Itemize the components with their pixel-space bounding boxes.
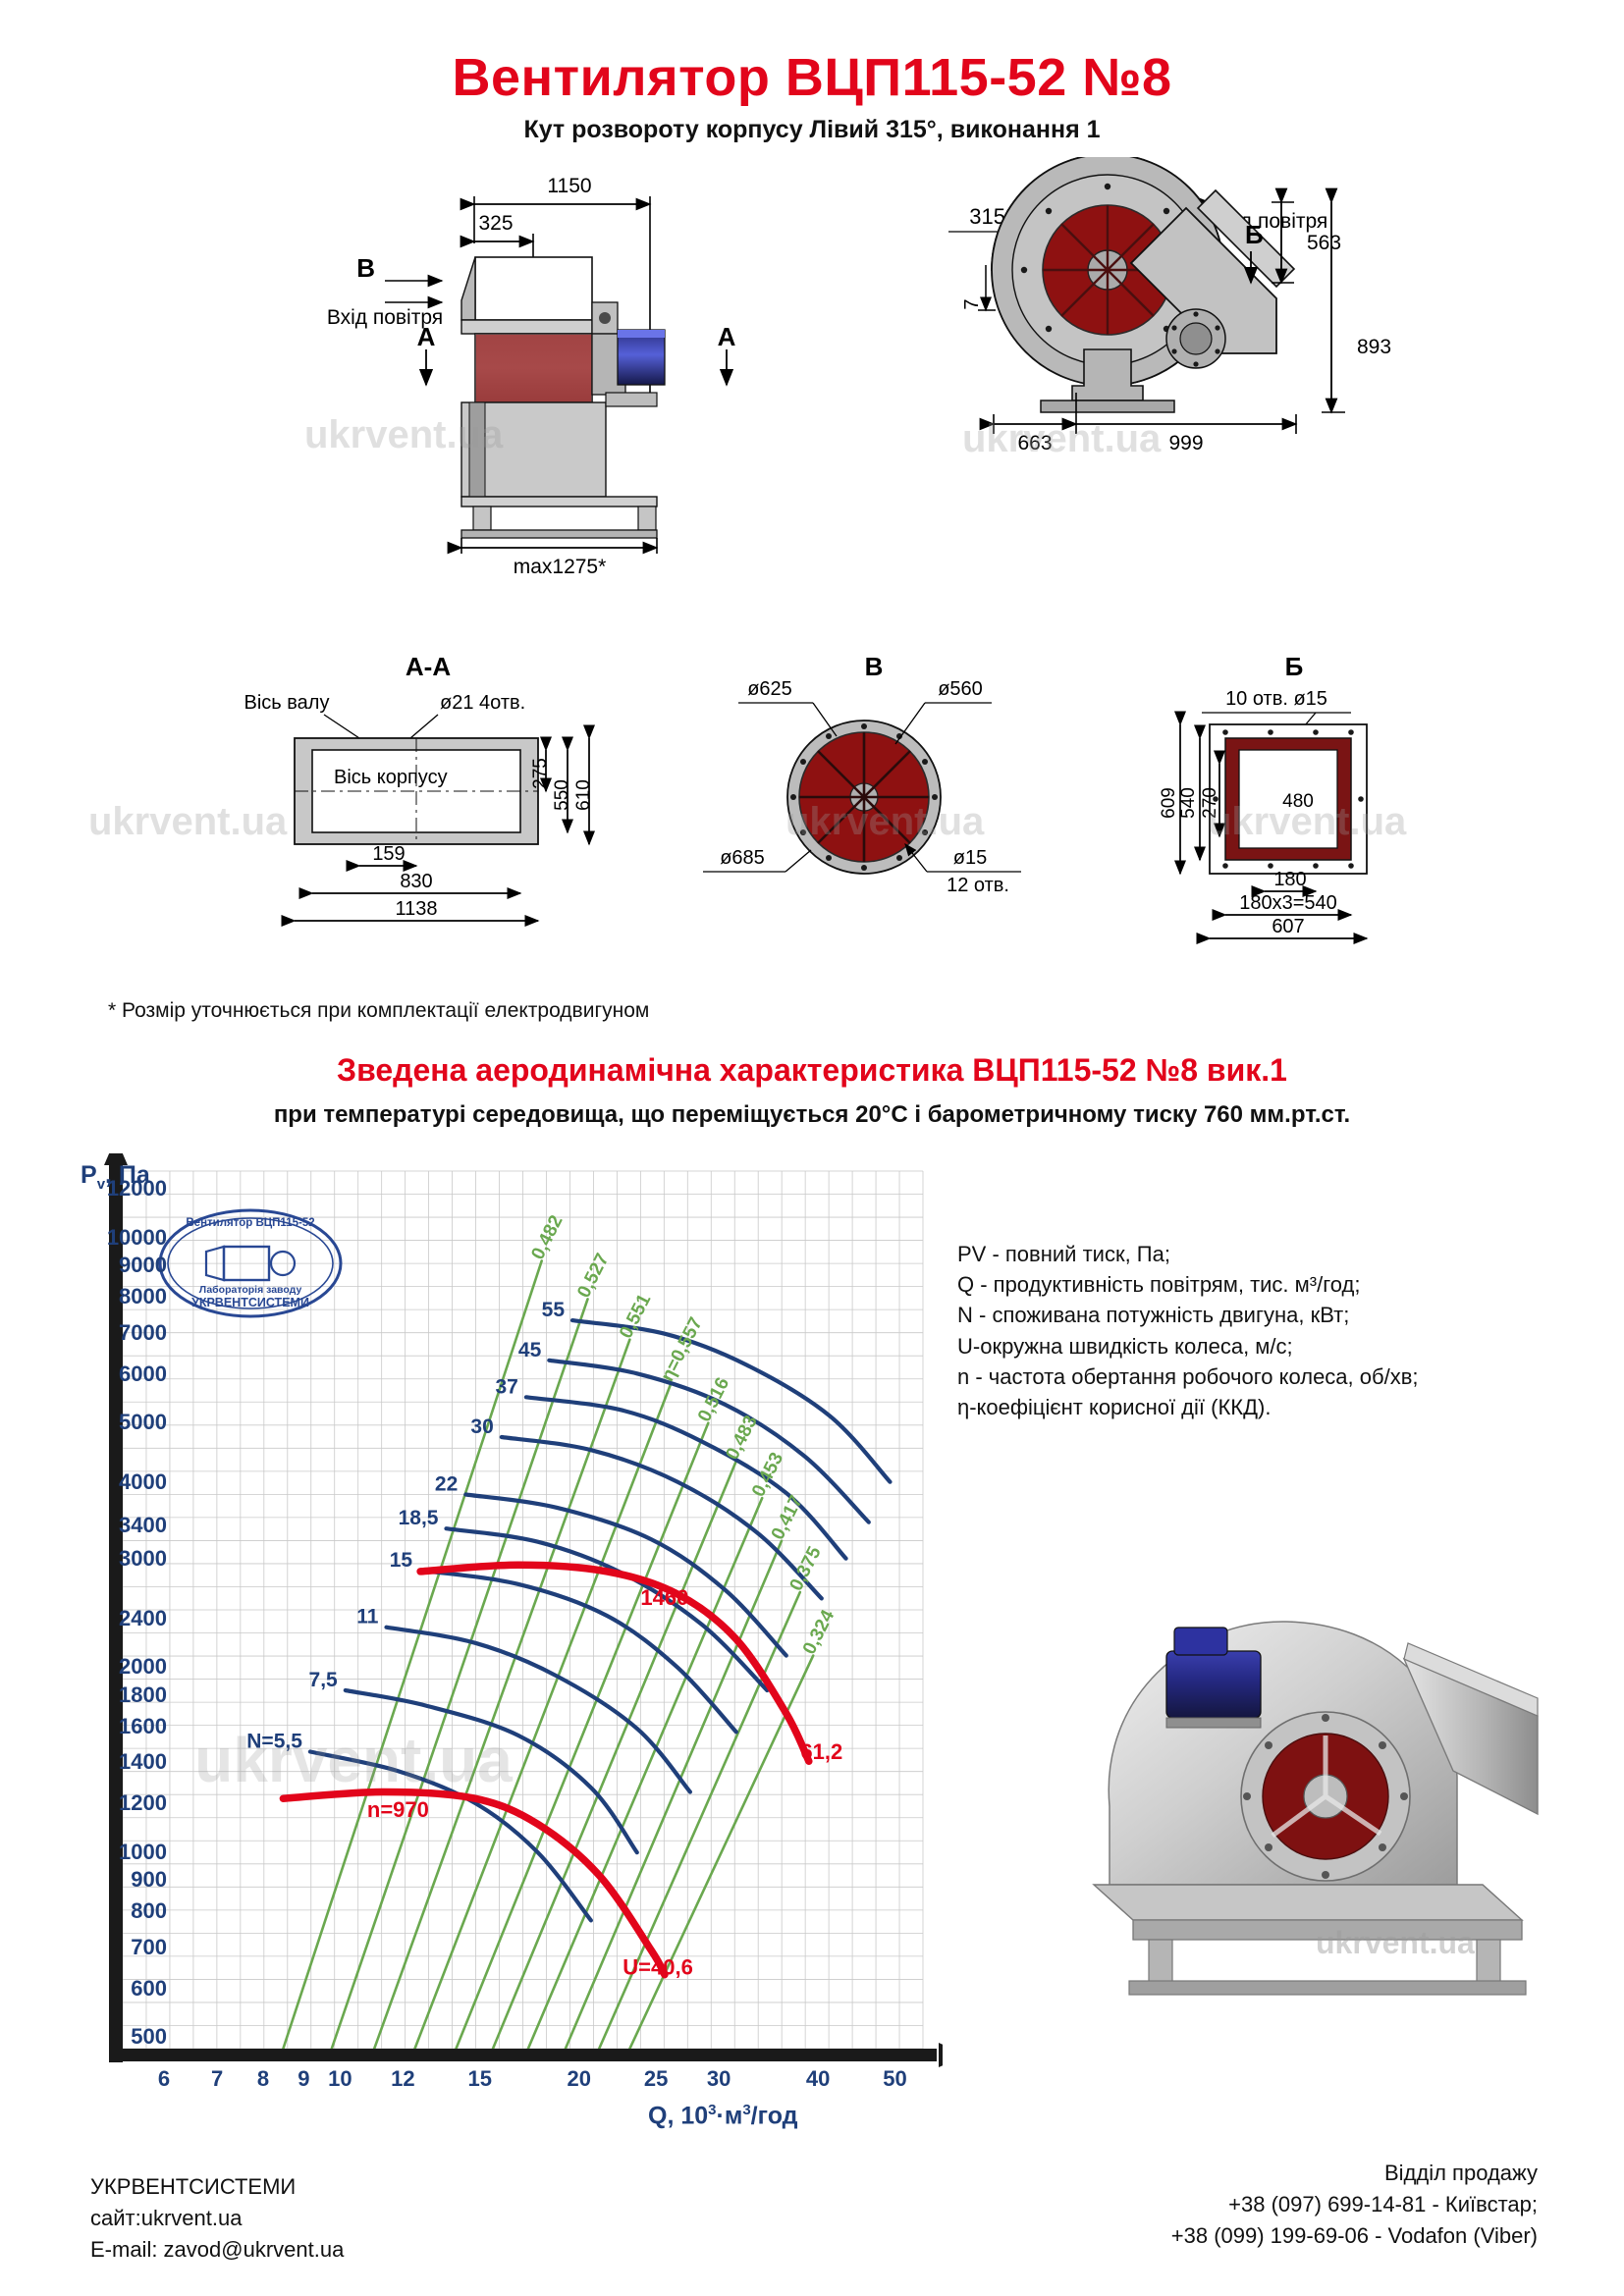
- y-tick-6000: 6000: [119, 1362, 167, 1387]
- y-tick-600: 600: [131, 1976, 167, 2002]
- x-tick-8: 8: [257, 2066, 269, 2092]
- footer-company: УКРВЕНТСИСТЕМИ: [90, 2171, 344, 2203]
- dim-label-15: ø15: [953, 847, 987, 869]
- watermark-text: ukrvent.ua: [304, 413, 504, 456]
- legend-line-5: η-коефіцієнт корисної дії (ККД).: [957, 1392, 1566, 1422]
- holes-21-label: ø21 4отв.: [440, 692, 525, 714]
- y-tick-3400: 3400: [119, 1513, 167, 1538]
- stamp-bottom-text-1: Лабораторія заводу: [199, 1284, 302, 1296]
- label-30: 30: [470, 1415, 493, 1438]
- footer-phone-2[interactable]: +38 (099) 199-69-06 - Vodafon (Viber): [1171, 2220, 1538, 2252]
- dim-label-609: 609: [1159, 787, 1179, 819]
- y-tick-12000: 12000: [107, 1176, 167, 1201]
- dim-label-1138: 1138: [395, 898, 437, 920]
- view-b-drawing: В: [703, 652, 1021, 896]
- footer-site[interactable]: сайт:ukrvent.ua: [90, 2203, 344, 2234]
- watermark-text: ukrvent.ua: [962, 417, 1162, 460]
- chart-legend: PV - повний тиск, Па;Q - продуктивність …: [957, 1239, 1566, 1422]
- y-tick-1800: 1800: [119, 1682, 167, 1708]
- fan-side-body: [461, 257, 665, 538]
- dim-label-540: 540: [1178, 787, 1199, 819]
- dim-label-560: ø560: [938, 678, 983, 700]
- view-b-cyr-title: Б: [1285, 652, 1304, 681]
- dim-label-830: 830: [400, 871, 432, 892]
- drawings-top-row: 1150 325: [0, 157, 1624, 687]
- page-subtitle: Кут розвороту корпусу Лівий 315°, викона…: [0, 116, 1624, 144]
- y-tick-7000: 7000: [119, 1320, 167, 1346]
- watermark-text: ukrvent.ua: [88, 800, 288, 843]
- x-tick-12: 12: [391, 2066, 414, 2092]
- x-tick-30: 30: [707, 2066, 731, 2092]
- dim-label-275: 275: [530, 758, 551, 789]
- chart-subtitle: при температурі середовища, що переміщує…: [0, 1101, 1624, 1129]
- chart-y-ticks: 5006007008009001000120014001600180020002…: [59, 1153, 167, 2076]
- dim-label-1150: 1150: [547, 175, 591, 197]
- chart-x-axis-title: Q, 103·м3/год: [648, 2102, 798, 2130]
- section-mark-b: [385, 281, 442, 302]
- x-tick-10: 10: [328, 2066, 352, 2092]
- view-b-cyr-drawing: Б 10 отв. ø15 480: [1159, 652, 1367, 938]
- x-tick-15: 15: [468, 2066, 492, 2092]
- x-tick-40: 40: [806, 2066, 830, 2092]
- y-tick-800: 800: [131, 1898, 167, 1924]
- stamp-bottom-text-2: УКРВЕНТСИСТЕМИ: [191, 1296, 309, 1309]
- y-tick-900: 900: [131, 1867, 167, 1893]
- y-tick-1000: 1000: [119, 1840, 167, 1865]
- label-22: 22: [435, 1472, 458, 1495]
- y-tick-1200: 1200: [119, 1790, 167, 1816]
- section-aa-title: A-A: [406, 652, 451, 681]
- body-axis-label: Вісь корпусу: [334, 767, 448, 788]
- y-tick-1400: 1400: [119, 1749, 167, 1775]
- label-18-5: 18,5: [399, 1507, 439, 1529]
- y-tick-9000: 9000: [119, 1253, 167, 1278]
- dim-label-893: 893: [1357, 336, 1391, 358]
- legend-line-4: n - частота обертання робочого колеса, о…: [957, 1362, 1566, 1392]
- x-tick-7: 7: [211, 2066, 223, 2092]
- dim-label-180x3: 180х3=540: [1239, 892, 1337, 914]
- aerodynamic-chart: Pv, Па Q, 103·м3/год 5006007008009001000…: [59, 1153, 943, 2145]
- side-view-drawing: 1150 325: [327, 175, 736, 578]
- y-tick-5000: 5000: [119, 1410, 167, 1435]
- dim-label-563: 563: [1307, 232, 1341, 254]
- stamp-top-text: Вентилятор ВЦП115-52: [186, 1217, 314, 1229]
- x-axis-arrow: [939, 2043, 943, 2067]
- section-label-b-cyr: Б: [1245, 220, 1264, 249]
- footer-right: Відділ продажу +38 (097) 699-14-81 - Киї…: [1171, 2158, 1538, 2252]
- page-title: Вентилятор ВЦП115-52 №8: [0, 47, 1624, 108]
- scroll-housing: [992, 157, 1294, 412]
- dim-max1275: [461, 538, 657, 554]
- product-photo: ukrvent.ua: [992, 1561, 1581, 2032]
- dim-label-610: 610: [573, 779, 594, 811]
- chart-title: Зведена аеродинамічна характеристика ВЦП…: [0, 1052, 1624, 1089]
- y-tick-1600: 1600: [119, 1714, 167, 1739]
- dim-label-325: 325: [478, 212, 513, 235]
- x-tick-25: 25: [644, 2066, 668, 2092]
- y-tick-2400: 2400: [119, 1606, 167, 1631]
- legend-line-3: U-окружна швидкість колеса, м/с;: [957, 1331, 1566, 1362]
- dim-label-180: 180: [1273, 869, 1306, 890]
- dim-label-550: 550: [552, 779, 572, 811]
- dim-label-999: 999: [1168, 432, 1203, 454]
- label-55: 55: [542, 1299, 566, 1321]
- footer-left: УКРВЕНТСИСТЕМИ сайт:ukrvent.ua E-mail: z…: [90, 2171, 344, 2266]
- legend-line-1: Q - продуктивність повітрям, тис. м³/год…: [957, 1269, 1566, 1300]
- dim-label-625: ø625: [747, 678, 792, 700]
- x-tick-9: 9: [298, 2066, 309, 2092]
- legend-line-0: PV - повний тиск, Па;: [957, 1239, 1566, 1269]
- dim-label-607: 607: [1272, 916, 1304, 937]
- section-aa-drawing: A-A Вісь валу ø21 4отв. Вісь корпусу: [244, 652, 594, 921]
- datasheet-page: Вентилятор ВЦП115-52 №8 Кут розвороту ко…: [0, 0, 1624, 2296]
- legend-line-2: N - споживана потужність двигуна, кВт;: [957, 1300, 1566, 1330]
- label-45: 45: [518, 1339, 542, 1362]
- dim-label-10holes: 10 отв. ø15: [1225, 688, 1327, 710]
- drawings-bottom-row: A-A Вісь валу ø21 4отв. Вісь корпусу: [0, 648, 1624, 982]
- watermark-text: ukrvent.ua: [1208, 800, 1407, 843]
- dim-label-12holes: 12 отв.: [947, 875, 1009, 896]
- annotation-1460: 1460: [640, 1585, 688, 1610]
- label-15: 15: [390, 1549, 413, 1572]
- annotation-U-40-6: U=40,6: [623, 1955, 693, 1980]
- y-tick-700: 700: [131, 1935, 167, 1960]
- section-label-b: В: [356, 253, 375, 283]
- dim-label-max1275: max1275*: [514, 556, 607, 578]
- y-tick-3000: 3000: [119, 1546, 167, 1572]
- front-view-drawing: 785 Вихід повітря 315°: [948, 157, 1391, 454]
- dim-label-685: ø685: [720, 847, 765, 869]
- footer-email[interactable]: E-mail: zavod@ukrvent.ua: [90, 2234, 344, 2266]
- label-7-5: 7,5: [309, 1669, 339, 1691]
- x-axis-bar: [109, 2049, 937, 2061]
- x-tick-20: 20: [568, 2066, 591, 2092]
- y-tick-2000: 2000: [119, 1654, 167, 1680]
- view-b-title: В: [865, 652, 884, 681]
- watermark-text: ukrvent.ua: [194, 1725, 513, 1795]
- y-tick-10000: 10000: [107, 1225, 167, 1251]
- y-tick-500: 500: [131, 2024, 167, 2050]
- footnote: * Розмір уточнюється при комплектації ел…: [108, 999, 649, 1023]
- dim-label-159: 159: [372, 843, 405, 865]
- footer-phone-1[interactable]: +38 (097) 699-14-81 - Київстар;: [1171, 2189, 1538, 2220]
- x-tick-6: 6: [158, 2066, 170, 2092]
- label-37: 37: [496, 1375, 518, 1398]
- annotation-n-970: n=970: [367, 1797, 429, 1822]
- section-label-a-left: A: [417, 322, 436, 351]
- shaft-axis-label: Вісь валу: [244, 692, 330, 714]
- y-tick-8000: 8000: [119, 1284, 167, 1309]
- dim-label-7: 7: [961, 298, 983, 309]
- y-tick-4000: 4000: [119, 1469, 167, 1495]
- section-label-a-right: A: [718, 322, 736, 351]
- watermark-text: ukrvent.ua: [785, 800, 985, 843]
- watermark-text: ukrvent.ua: [1316, 1925, 1475, 1960]
- x-tick-50: 50: [883, 2066, 906, 2092]
- chart-plot: N=5,57,5111518,522303745550,3240,3750,41…: [59, 1153, 943, 2106]
- chart-x-ticks: 67891012152025304050: [59, 2066, 943, 2106]
- label-11: 11: [356, 1606, 379, 1629]
- footer-sales-title: Відділ продажу: [1171, 2158, 1538, 2189]
- annotation-61-2: 61,2: [800, 1739, 842, 1764]
